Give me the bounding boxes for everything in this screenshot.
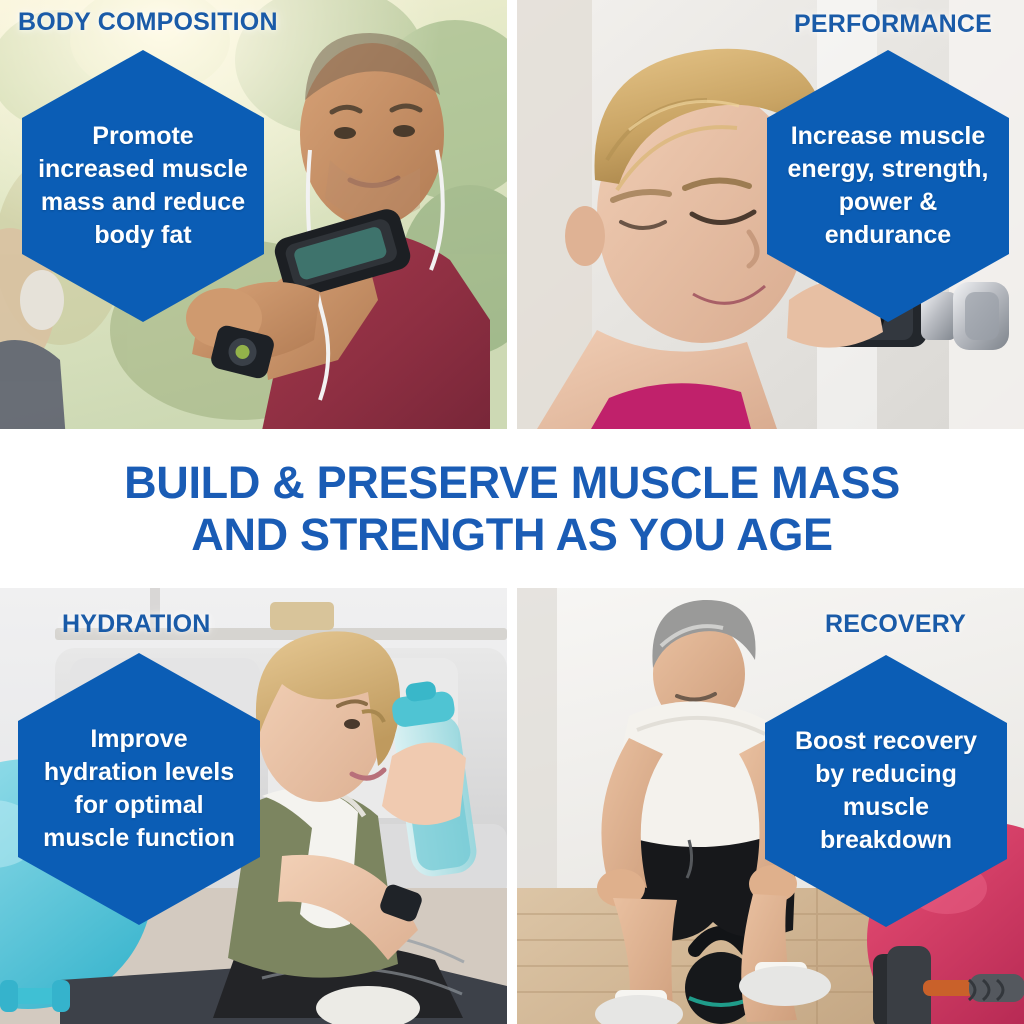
section-label-recovery: RECOVERY <box>825 610 966 639</box>
hex-text-body-composition: Promote increased muscle mass and reduce… <box>22 120 264 252</box>
hex-text-recovery: Boost recovery by reducing muscle breakd… <box>779 725 993 857</box>
hex-badge-recovery: Boost recovery by reducing muscle breakd… <box>765 655 1007 927</box>
hex-text-performance: Increase muscle energy, strength, power … <box>772 120 1005 252</box>
hex-badge-hydration: Improve hydration levels for optimal mus… <box>18 653 260 925</box>
hex-badge-body-composition: Promote increased muscle mass and reduce… <box>22 50 264 322</box>
hex-badge-performance: Increase muscle energy, strength, power … <box>767 50 1009 322</box>
section-label-hydration: HYDRATION <box>62 610 211 639</box>
infographic-root: BODY COMPOSITION Promote increased muscl… <box>0 0 1024 1024</box>
center-banner: BUILD & PRESERVE MUSCLE MASS AND STRENGT… <box>0 429 1024 588</box>
section-label-body-composition: BODY COMPOSITION <box>18 8 278 37</box>
section-label-performance: PERFORMANCE <box>794 10 992 39</box>
hex-text-hydration: Improve hydration levels for optimal mus… <box>27 723 251 855</box>
banner-headline-line-1: BUILD & PRESERVE MUSCLE MASS <box>124 457 900 508</box>
banner-headline-line-2: AND STRENGTH AS YOU AGE <box>191 509 833 560</box>
